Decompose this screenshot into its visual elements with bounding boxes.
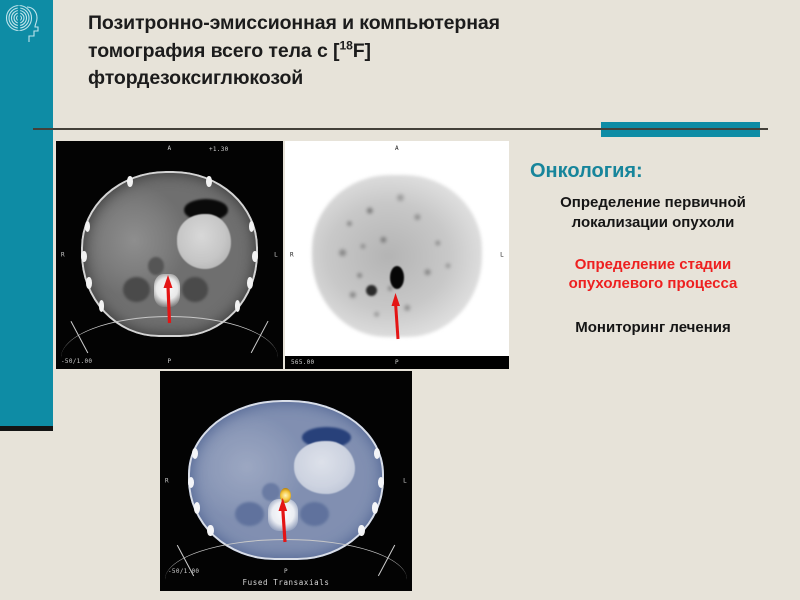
ct-label-window: -50/1.00 <box>61 358 92 365</box>
fused-label-window: -50/1.00 <box>168 568 199 575</box>
ct-label-left: L <box>274 252 278 259</box>
bullet-1-line-1: Определение первичной <box>560 194 746 211</box>
isotope-superscript: 18 <box>339 38 352 52</box>
ct-rib <box>81 251 87 263</box>
fused-frame: L R P -50/1.00 Fused Transaxials <box>160 371 412 591</box>
fused-caption: Fused Transaxials <box>243 578 330 587</box>
ct-rib <box>249 221 255 233</box>
pet-label-left: L <box>500 252 504 259</box>
section-heading-oncology: Онкология: <box>530 160 794 183</box>
page-title: Позитронно-эмиссионная и компьютерная то… <box>88 10 588 93</box>
title-line-1: Позитронно-эмиссионная и компьютерная <box>88 12 500 34</box>
ct-rib <box>247 277 253 289</box>
pet-frame: A L R 565.00 P <box>285 141 509 369</box>
ct-stomach <box>177 214 232 269</box>
spacer <box>512 294 794 318</box>
sidebar-shadow-bar <box>0 426 53 431</box>
annotation-arrow-pet <box>391 291 403 341</box>
annotation-arrow-fused <box>278 496 290 544</box>
ct-rib <box>206 176 212 188</box>
pet-label-posterior: P <box>395 359 399 366</box>
left-accent-sidebar <box>0 0 53 426</box>
fused-label-left: L <box>403 478 407 485</box>
spacer <box>512 233 794 255</box>
ct-label-posterior: P <box>168 358 172 365</box>
fused-label-right: R <box>165 478 169 485</box>
ct-label-anterior: A <box>168 145 172 152</box>
ct-rib <box>86 277 92 289</box>
pet-label-scale: 565.00 <box>291 359 314 366</box>
content-column: Онкология: Определение первичной локализ… <box>512 160 794 338</box>
bullet-2-line-2: опухолевого процесса <box>569 275 738 292</box>
divider-accent-rule <box>601 128 768 130</box>
bullet-item-primary-localization: Определение первичной локализации опухол… <box>512 193 794 233</box>
ct-rib <box>235 300 241 312</box>
pet-footer-bar: 565.00 P <box>285 356 509 369</box>
bullet-item-staging: Определение стадии опухолевого процесса <box>512 255 794 295</box>
bullet-item-treatment-monitoring: Мониторинг лечения <box>512 318 794 338</box>
ct-rib <box>252 251 258 263</box>
ct-rib <box>85 221 91 233</box>
annotation-arrow-ct <box>163 273 175 325</box>
pet-label-anterior: A <box>395 145 399 152</box>
bullet-1-line-2: локализации опухоли <box>572 214 735 231</box>
title-line-2-post: F] <box>353 40 371 62</box>
ct-frame: A P L R +1.30 -50/1.00 <box>56 141 283 369</box>
bullet-2-line-1: Определение стадии <box>575 256 732 273</box>
pet-secondary-uptake <box>366 285 377 296</box>
ct-label-right: R <box>61 252 65 259</box>
ct-rib <box>127 176 133 188</box>
scan-image-ct: A P L R +1.30 -50/1.00 <box>56 141 283 369</box>
ct-label-slice: +1.30 <box>209 146 229 153</box>
title-line-2-pre: томография всего тела с [ <box>88 40 339 62</box>
head-brain-profile-icon <box>3 2 47 46</box>
ct-rib <box>99 300 105 312</box>
ct-kidney-left <box>123 277 150 302</box>
title-line-3: фтордезоксиглюкозой <box>88 67 303 89</box>
fused-label-posterior: P <box>284 568 288 575</box>
scan-image-pet: A L R 565.00 P <box>285 141 509 369</box>
bullet-3-line-1: Мониторинг лечения <box>575 319 731 336</box>
scan-image-fused: L R P -50/1.00 Fused Transaxials <box>160 371 412 591</box>
pet-label-right: R <box>290 252 294 259</box>
ct-kidney-right <box>182 277 209 302</box>
